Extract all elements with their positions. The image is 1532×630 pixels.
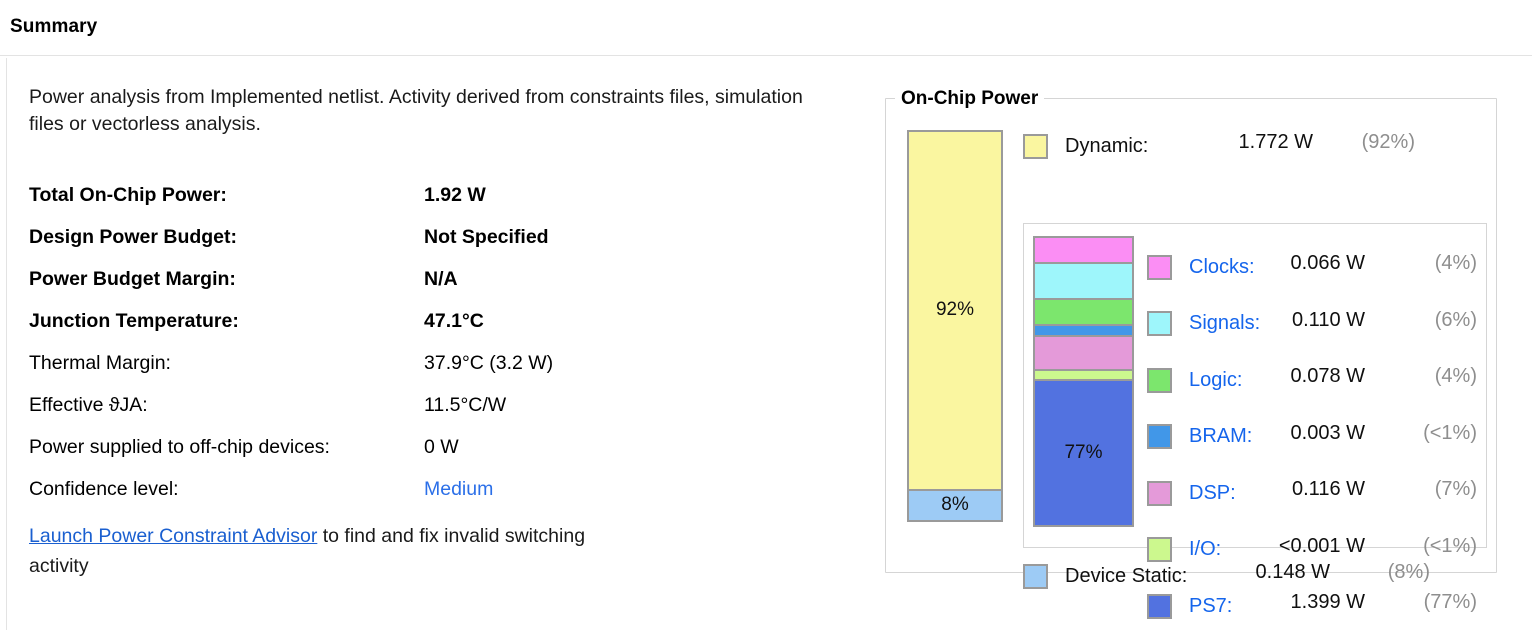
legend-percent-value: (4%) [1377,252,1477,275]
legend-watt-value: 0.078 W [1215,365,1365,388]
power-constraint-advisor-block: Launch Power Constraint Advisor to find … [29,521,649,581]
on-chip-power-groupbox: On-Chip Power 92% 8% Dynamic: 1.772 W (9… [885,88,1497,573]
color-swatch [1147,311,1172,336]
bar-segment-signals [1035,262,1132,298]
power-metric-label: Junction Temperature: [29,310,239,333]
bar-segment-logic [1035,298,1132,324]
bar-segment-dynamic-label: 92% [936,299,974,321]
power-metric-value: 1.92 W [424,184,486,207]
bar-segment-bram [1035,324,1132,335]
page-title: Summary [10,16,97,38]
legend-watt-value: 1.399 W [1215,591,1365,614]
power-metric-row: Confidence level:Medium [29,478,849,520]
device-static-percent-value: (8%) [1340,561,1430,584]
color-swatch [1147,481,1172,506]
color-swatch [1147,537,1172,562]
bar-segment-io [1035,369,1132,379]
power-metric-value: Not Specified [424,226,549,249]
color-swatch [1147,424,1172,449]
color-swatch [1147,594,1172,619]
legend-percent-value: (<1%) [1377,535,1477,558]
power-metric-label: Total On-Chip Power: [29,184,227,207]
power-metric-row: Power Budget Margin:N/A [29,268,849,310]
power-metric-label: Design Power Budget: [29,226,237,249]
legend-watt-value: 0.066 W [1215,252,1365,275]
power-metric-row: Design Power Budget:Not Specified [29,226,849,268]
bar-segment-device-static: 8% [909,489,1001,520]
legend-watt-value: 0.116 W [1215,478,1365,501]
color-swatch [1147,368,1172,393]
legend-watt-value: 0.110 W [1215,309,1365,332]
legend-percent-value: (4%) [1377,365,1477,388]
power-metric-label: Effective ϑJA: [29,394,148,417]
bar-segment-ps7: 77% [1035,379,1132,525]
legend-watt-value: <0.001 W [1215,535,1365,558]
confidence-level-value[interactable]: Medium [424,478,493,501]
power-metric-value: N/A [424,268,458,291]
header-divider [0,55,1532,56]
power-metric-row: Total On-Chip Power:1.92 W [29,184,849,226]
dynamic-watt-value: 1.772 W [1113,131,1313,154]
device-static-watt-value: 0.148 W [1130,561,1330,584]
power-metric-row: Power supplied to off-chip devices:0 W [29,436,849,478]
bar-segment-clocks [1035,238,1132,262]
power-metric-label: Power supplied to off-chip devices: [29,436,330,459]
legend-percent-value: (77%) [1377,591,1477,614]
bar-segment-dsp [1035,335,1132,369]
analysis-description: Power analysis from Implemented netlist.… [29,84,829,138]
legend-watt-value: 0.003 W [1215,422,1365,445]
bar-segment-label: 77% [1064,442,1102,464]
on-chip-power-title: On-Chip Power [895,88,1044,110]
power-metric-value: 0 W [424,436,459,459]
power-metric-value: 11.5°C/W [424,394,506,417]
power-metric-label: Confidence level: [29,478,179,501]
power-metric-label: Thermal Margin: [29,352,171,375]
power-metric-row: Thermal Margin:37.9°C (3.2 W) [29,352,849,394]
legend-percent-value: (7%) [1377,478,1477,501]
bar-segment-device-static-label: 8% [941,494,968,516]
power-metric-value: 37.9°C (3.2 W) [424,352,553,375]
power-metric-value: 47.1°C [424,310,484,333]
dynamic-color-swatch [1023,134,1048,159]
power-summary-view: Summary Power analysis from Implemented … [0,0,1532,630]
legend-percent-value: (6%) [1377,309,1477,332]
device-static-color-swatch [1023,564,1048,589]
power-metric-label: Power Budget Margin: [29,268,236,291]
launch-power-constraint-advisor-link[interactable]: Launch Power Constraint Advisor [29,525,317,547]
summary-header: Summary [0,0,1532,56]
power-metrics-list: Total On-Chip Power:1.92 WDesign Power B… [29,184,849,520]
dynamic-power-stacked-bar: 77% [1033,236,1134,527]
power-metric-row: Junction Temperature:47.1°C [29,310,849,352]
bar-segment-dynamic: 92% [909,132,1001,489]
legend-percent-value: (<1%) [1377,422,1477,445]
dynamic-percent-value: (92%) [1325,131,1415,154]
power-metric-row: Effective ϑJA:11.5°C/W [29,394,849,436]
summary-body: Power analysis from Implemented netlist.… [6,58,1532,630]
legend-row-io[interactable]: I/O: [1147,535,1221,565]
total-power-stacked-bar: 92% 8% [907,130,1003,522]
color-swatch [1147,255,1172,280]
